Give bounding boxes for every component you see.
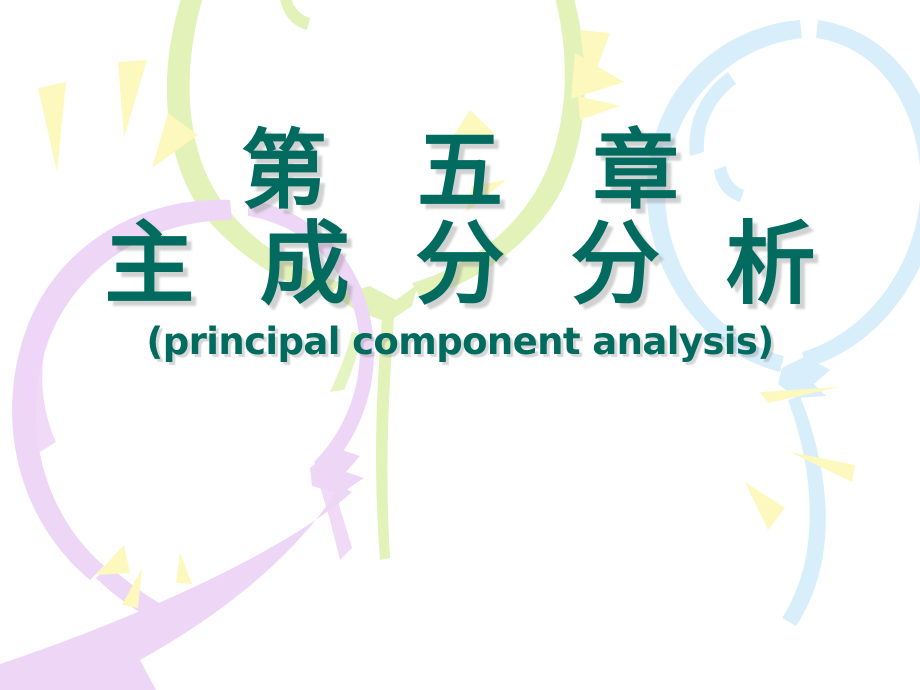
presentation-slide: 第 五 章 主 成 分 分 析 (principal component ana…	[0, 0, 920, 690]
page-subtitle-english: (principal component analysis)	[0, 320, 920, 363]
page-title-chapter: 第 五 章	[0, 128, 920, 214]
title-block: 第 五 章 主 成 分 分 析 (principal component ana…	[0, 128, 920, 363]
page-title-topic: 主 成 分 分 析	[0, 220, 920, 310]
